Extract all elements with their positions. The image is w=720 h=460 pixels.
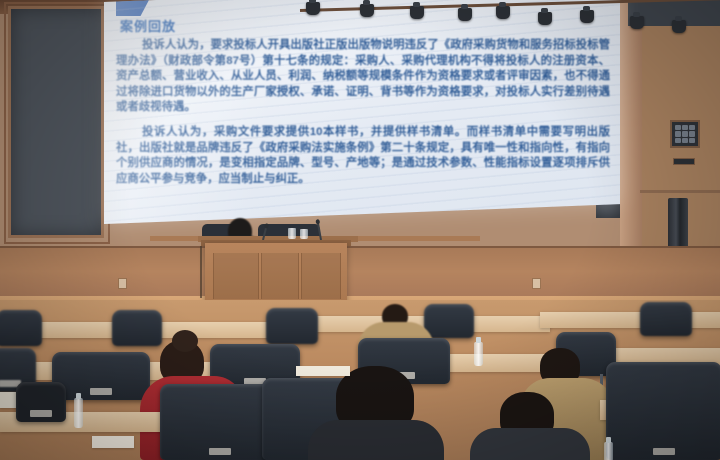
- bag: [16, 382, 66, 422]
- chair[interactable]: [0, 310, 42, 346]
- wall-control-panel[interactable]: [670, 120, 700, 148]
- chair[interactable]: [52, 352, 150, 400]
- podium-panel: [301, 253, 341, 299]
- paper-sheet: [92, 436, 134, 448]
- water-bottle: [74, 398, 83, 428]
- stage-front-panel: [0, 248, 720, 300]
- podium-panel: [261, 253, 299, 299]
- control-button[interactable]: [682, 131, 688, 136]
- control-button[interactable]: [689, 131, 695, 136]
- podium-panel: [213, 253, 259, 299]
- control-panel-label: [673, 158, 695, 165]
- water-bottle: [604, 442, 613, 460]
- slide-corner-flag-icon: [116, 0, 150, 16]
- slide-paragraph: 投诉人认为，要求投标人开具出版社正版出版物说明违反了《政府采购货物和服务招标投标…: [116, 38, 610, 116]
- chair[interactable]: [640, 302, 692, 336]
- control-button[interactable]: [689, 125, 695, 130]
- control-button[interactable]: [675, 125, 681, 130]
- wall-shelf-line: [640, 190, 720, 193]
- control-button[interactable]: [675, 131, 681, 136]
- water-glass: [300, 229, 308, 239]
- control-button[interactable]: [689, 138, 695, 143]
- control-button[interactable]: [682, 138, 688, 143]
- chair[interactable]: [266, 308, 318, 344]
- slide-body: 投诉人认为，要求投标人开具出版社正版出版物说明违反了《政府采购货物和服务招标投标…: [116, 38, 610, 196]
- wall-pillar: [620, 0, 642, 250]
- water-bottle: [474, 342, 483, 366]
- wall-outlet: [118, 278, 127, 289]
- wooden-podium: [205, 243, 347, 305]
- control-button[interactable]: [675, 138, 681, 143]
- chair[interactable]: [606, 362, 720, 460]
- slide-title: 案例回放: [120, 16, 176, 35]
- lecture-hall-photo: 案例回放 投诉人认为，要求投标人开具出版社正版出版物说明违反了《政府采购货物和服…: [0, 0, 720, 460]
- cable: [200, 246, 202, 298]
- ceiling-dark-section-b: [628, 0, 720, 26]
- projection-screen: 案例回放 投诉人认为，要求投标人开具出版社正版出版物说明违反了《政府采购货物和服…: [104, 0, 620, 224]
- control-button[interactable]: [682, 125, 688, 130]
- paper-sheet: [296, 366, 350, 376]
- left-acoustic-panel: [8, 6, 104, 238]
- wall-outlet: [532, 278, 541, 289]
- water-glass: [288, 228, 296, 239]
- chair[interactable]: [424, 304, 474, 338]
- audience-seating: [0, 300, 720, 460]
- chair[interactable]: [112, 310, 162, 346]
- slide-paragraph: 投诉人认为，采购文件要求提供10本样书，并提供样书清单。而样书清单中需要写明出版…: [116, 125, 610, 187]
- desk: [540, 312, 720, 328]
